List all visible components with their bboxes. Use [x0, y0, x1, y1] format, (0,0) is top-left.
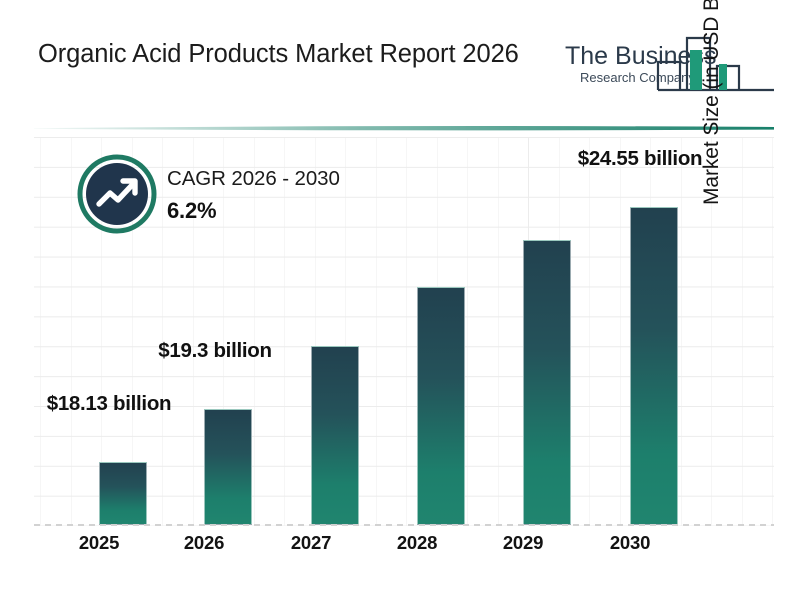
value-label-2026: $19.3 billion [152, 337, 278, 364]
bar-chart-logo-icon: The Business Research Company [562, 28, 776, 100]
cagr-value-label: 6.2% [167, 198, 427, 224]
value-label-2025: $18.13 billion [46, 390, 172, 417]
cagr-period-label: CAGR 2026 - 2030 [167, 167, 427, 191]
header-divider [34, 120, 774, 129]
y-axis-title-text: Market Size (in USD Billion) [700, 0, 724, 205]
bar-2025[interactable] [99, 462, 147, 525]
value-label-2030: $24.55 billion [577, 145, 703, 172]
xtick-2029: 2029 [493, 532, 553, 554]
company-logo: The Business Research Company [562, 28, 776, 100]
bar-2029[interactable] [523, 240, 571, 525]
chart-page: Organic Acid Products Market Report 2026… [0, 0, 800, 600]
xtick-2025: 2025 [69, 532, 129, 554]
bar-2028[interactable] [417, 287, 465, 525]
xtick-2027: 2027 [281, 532, 341, 554]
cagr-disc [86, 163, 148, 225]
xtick-2028: 2028 [387, 532, 447, 554]
xtick-2026: 2026 [174, 532, 234, 554]
logo-line-2: Research Company [580, 70, 695, 85]
page-title: Organic Acid Products Market Report 2026 [38, 37, 538, 72]
axis-baseline [34, 524, 774, 526]
y-axis-title: Market Size (in USD Billion) [700, 0, 724, 205]
xtick-2030: 2030 [600, 532, 660, 554]
bar-2030[interactable] [630, 207, 678, 525]
bar-2027[interactable] [311, 346, 359, 525]
bar-2026[interactable] [204, 409, 252, 525]
cagr-badge [77, 154, 157, 234]
cagr-text-block: CAGR 2026 - 2030 6.2% [167, 167, 427, 224]
